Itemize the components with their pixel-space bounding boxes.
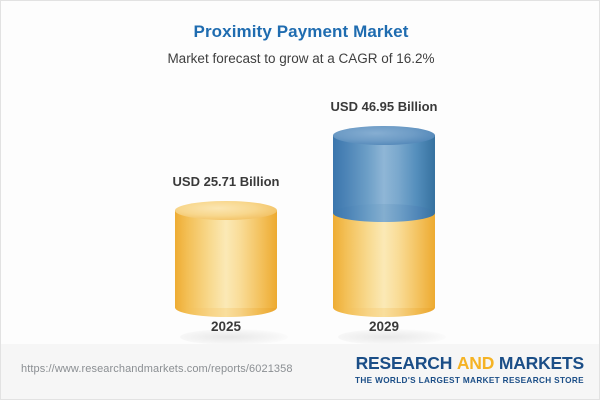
category-label-2025: 2025 bbox=[146, 319, 306, 334]
report-url[interactable]: https://www.researchandmarkets.com/repor… bbox=[21, 363, 293, 375]
logo-word-and: AND bbox=[457, 353, 494, 373]
cylinder-segment-seam-2029 bbox=[333, 204, 435, 222]
cylinder-2025 bbox=[175, 201, 277, 308]
research-and-markets-logo[interactable]: RESEARCH AND MARKETS THE WORLD'S LARGEST… bbox=[355, 353, 584, 387]
cylinder-2029 bbox=[333, 126, 435, 308]
cylinder-top-cap-2025 bbox=[175, 201, 277, 220]
cylinder-top-cap-2029 bbox=[333, 126, 435, 145]
cylinder-base-segment-2029 bbox=[333, 212, 435, 308]
infographic-card: Proximity Payment Market Market forecast… bbox=[0, 0, 600, 400]
chart-plot-area: USD 25.71 Billion USD 46.95 Billion bbox=[1, 1, 600, 346]
logo-tagline: THE WORLD'S LARGEST MARKET RESEARCH STOR… bbox=[355, 375, 584, 387]
value-label-2029: USD 46.95 Billion bbox=[304, 99, 464, 114]
value-label-2025: USD 25.71 Billion bbox=[146, 174, 306, 189]
logo-word-research: RESEARCH bbox=[356, 353, 453, 373]
cylinder-body-2025 bbox=[175, 210, 277, 308]
category-label-2029: 2029 bbox=[304, 319, 464, 334]
footer-bar: https://www.researchandmarkets.com/repor… bbox=[1, 344, 600, 399]
logo-word-markets: MARKETS bbox=[499, 353, 584, 373]
logo-wordmark: RESEARCH AND MARKETS bbox=[355, 353, 584, 373]
cylinder-growth-segment-2029 bbox=[333, 135, 435, 213]
